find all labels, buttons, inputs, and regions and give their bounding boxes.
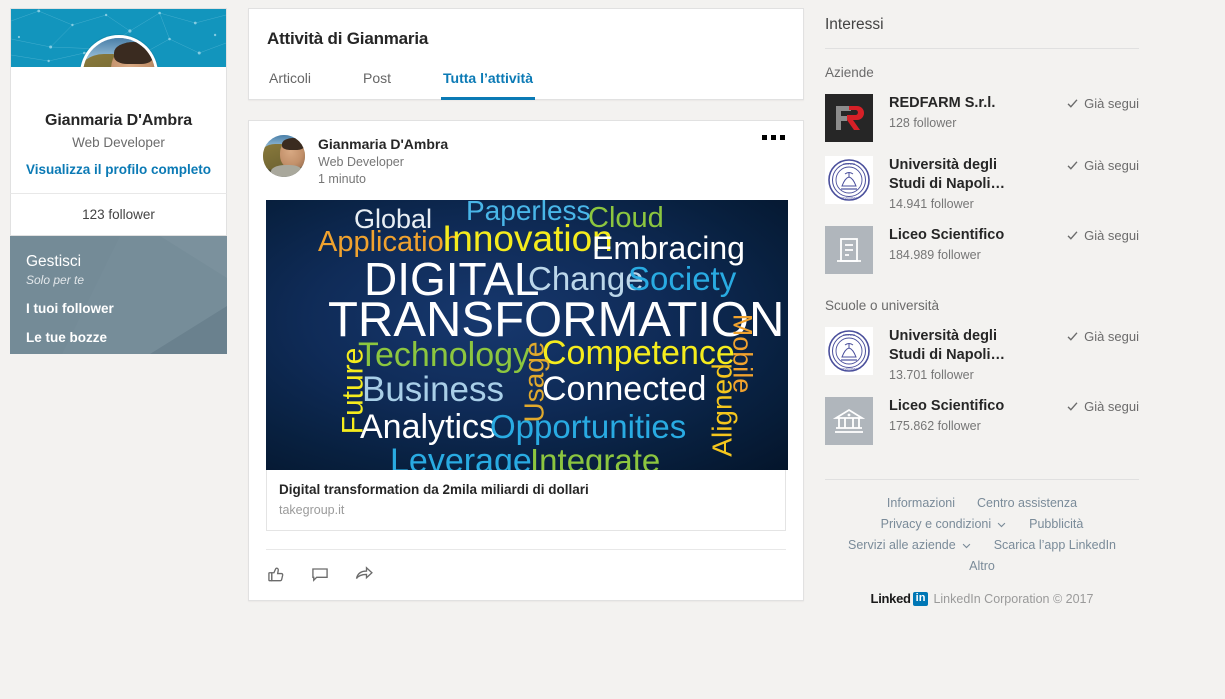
post-author-headline: Web Developer xyxy=(318,154,448,170)
footer-link-label: Altro xyxy=(969,559,995,573)
left-sidebar: Gianmaria D'Ambra Web Developer Visualiz… xyxy=(10,8,227,354)
footer-link[interactable]: Servizi alle aziende xyxy=(848,538,972,552)
footer-link-row: Altro xyxy=(825,559,1139,573)
tab-tutta-lattivita[interactable]: Tutta l’attività xyxy=(441,64,535,100)
interests-divider xyxy=(825,48,1139,49)
post-header: Gianmaria D'Ambra Web Developer 1 minuto xyxy=(249,121,803,187)
page-title: Attività di Gianmaria xyxy=(267,29,785,49)
wordcloud-word: Integrate xyxy=(530,444,660,470)
share-button[interactable] xyxy=(354,564,374,584)
linkedin-activity-page: Gianmaria D'Ambra Web Developer Visualiz… xyxy=(0,0,1225,699)
footer-link-row: InformazioniCentro assistenza xyxy=(825,496,1139,510)
copyright-text: LinkedIn Corporation © 2017 xyxy=(933,592,1093,606)
footer-link[interactable]: Privacy e condizioni xyxy=(881,517,1007,531)
wordcloud-word: Aligned xyxy=(709,363,737,456)
link-preview-domain: takegroup.it xyxy=(279,503,773,517)
following-label: Già segui xyxy=(1084,399,1139,414)
following-status[interactable]: Già segui xyxy=(1066,327,1139,344)
footer-link-row: Servizi alle aziendeScarica l’app Linked… xyxy=(825,538,1139,552)
chevron-down-icon xyxy=(961,540,972,551)
manage-panel: Gestisci Solo per te I tuoi follower Le … xyxy=(10,236,227,354)
post-action-bar xyxy=(266,549,786,600)
link-preview-title: Digital transformation da 2mila miliardi… xyxy=(279,481,773,499)
entity-row[interactable]: Liceo Scientifico175.862 followerGià seg… xyxy=(825,391,1139,453)
wordcloud-word: Future xyxy=(338,348,368,435)
entity-row[interactable]: SIGILLVMSTVDIORVMUniversità degli Studi … xyxy=(825,150,1139,220)
entity-name: Liceo Scientifico xyxy=(889,226,1037,245)
entity-name: Università degli Studi di Napoli… xyxy=(889,156,1037,194)
entity-info: Liceo Scientifico184.989 follower xyxy=(889,226,1037,263)
post-card: Gianmaria D'Ambra Web Developer 1 minuto… xyxy=(248,120,804,601)
linkedin-logo: Linked in xyxy=(871,591,929,606)
entity-row[interactable]: Liceo Scientifico184.989 followerGià seg… xyxy=(825,220,1139,282)
entity-info: REDFARM S.r.l.128 follower xyxy=(889,94,1037,131)
check-icon xyxy=(1066,97,1079,110)
copyright-row: Linked in LinkedIn Corporation © 2017 xyxy=(825,591,1139,606)
following-label: Già segui xyxy=(1084,228,1139,243)
following-status[interactable]: Già segui xyxy=(1066,94,1139,111)
footer-link-label: Informazioni xyxy=(887,496,955,510)
profile-headline: Web Developer xyxy=(23,134,214,151)
redfarm-logo xyxy=(825,94,873,142)
wordcloud-word: Change xyxy=(528,262,644,295)
footer-link[interactable]: Informazioni xyxy=(887,496,955,510)
check-icon xyxy=(1066,400,1079,413)
post-author-avatar[interactable] xyxy=(263,135,305,177)
avatar-photo xyxy=(83,38,155,67)
comment-button[interactable] xyxy=(310,564,330,584)
university-seal-logo: SIGILLVMSTVDIORVM xyxy=(825,156,873,204)
entity-info: Liceo Scientifico175.862 follower xyxy=(889,397,1037,434)
footer-link[interactable]: Pubblicità xyxy=(1029,517,1083,531)
profile-card: Gianmaria D'Ambra Web Developer Visualiz… xyxy=(10,8,227,193)
right-sidebar: Interessi AziendeREDFARM S.r.l.128 follo… xyxy=(825,16,1139,606)
follower-count: 123 follower xyxy=(10,193,227,236)
entity-info: Università degli Studi di Napoli…14.941 … xyxy=(889,156,1037,212)
your-followers-link[interactable]: I tuoi follower xyxy=(26,301,211,316)
entity-follower-count: 175.862 follower xyxy=(889,418,1037,434)
profile-details: Gianmaria D'Ambra Web Developer Visualiz… xyxy=(11,67,226,193)
linkedin-logo-word: Linked xyxy=(871,591,911,606)
profile-avatar[interactable] xyxy=(80,35,158,67)
entity-name: REDFARM S.r.l. xyxy=(889,94,1037,113)
footer-link-label: Centro assistenza xyxy=(977,496,1077,510)
footer-link[interactable]: Centro assistenza xyxy=(977,496,1077,510)
entity-info: Università degli Studi di Napoli…13.701 … xyxy=(889,327,1037,383)
your-drafts-link[interactable]: Le tue bozze xyxy=(26,330,211,345)
profile-cover-banner xyxy=(11,9,226,67)
footer-link-label: Privacy e condizioni xyxy=(881,517,991,531)
post-image-wordcloud[interactable]: GlobalPaperlessCloudApplicationInnovatio… xyxy=(266,200,788,470)
following-label: Già segui xyxy=(1084,158,1139,173)
wordcloud-word: Society xyxy=(628,262,736,295)
entity-row[interactable]: REDFARM S.r.l.128 followerGià segui xyxy=(825,88,1139,150)
ellipsis-icon[interactable] xyxy=(758,131,789,144)
post-author-name[interactable]: Gianmaria D'Ambra xyxy=(318,136,448,153)
following-status[interactable]: Già segui xyxy=(1066,226,1139,243)
check-icon xyxy=(1066,229,1079,242)
footer-link[interactable]: Scarica l’app LinkedIn xyxy=(994,538,1116,552)
svg-text:STVDIORVM: STVDIORVM xyxy=(841,367,856,371)
view-full-profile-link[interactable]: Visualizza il profilo completo xyxy=(23,160,214,179)
check-icon xyxy=(1066,159,1079,172)
footer-link-row: Privacy e condizioniPubblicità xyxy=(825,517,1139,531)
wordcloud-word: Business xyxy=(362,372,504,407)
wordcloud-word: Connected xyxy=(542,372,706,406)
wordcloud-word: Leverage xyxy=(390,444,532,470)
check-icon xyxy=(1066,330,1079,343)
comment-icon xyxy=(310,564,330,584)
manage-title: Gestisci xyxy=(26,252,211,272)
following-status[interactable]: Già segui xyxy=(1066,156,1139,173)
interests-title: Interessi xyxy=(825,16,1139,34)
footer-link-label: Servizi alle aziende xyxy=(848,538,956,552)
university-seal-logo: SIGILLVMSTVDIORVM xyxy=(825,327,873,375)
main-content: Attività di Gianmaria Articoli Post Tutt… xyxy=(248,8,804,601)
entity-row[interactable]: SIGILLVMSTVDIORVMUniversità degli Studi … xyxy=(825,321,1139,391)
manage-subtitle: Solo per te xyxy=(26,273,211,287)
footer-link-label: Scarica l’app LinkedIn xyxy=(994,538,1116,552)
entity-follower-count: 184.989 follower xyxy=(889,247,1037,263)
wordcloud-word: Technology xyxy=(358,338,530,372)
svg-text:SIGILLVM: SIGILLVM xyxy=(843,333,855,337)
entity-follower-count: 13.701 follower xyxy=(889,367,1037,383)
interests-groups: AziendeREDFARM S.r.l.128 followerGià seg… xyxy=(825,65,1139,453)
profile-name: Gianmaria D'Ambra xyxy=(23,111,214,131)
entity-follower-count: 128 follower xyxy=(889,115,1037,131)
entity-follower-count: 14.941 follower xyxy=(889,196,1037,212)
svg-text:SIGILLVM: SIGILLVM xyxy=(843,162,855,166)
like-button[interactable] xyxy=(266,564,286,584)
following-status[interactable]: Già segui xyxy=(1066,397,1139,414)
wordcloud-word: Innovation xyxy=(442,220,613,257)
wordcloud-word: Analytics xyxy=(360,410,496,444)
thumbs-up-icon xyxy=(266,564,286,584)
svg-text:STVDIORVM: STVDIORVM xyxy=(841,196,856,200)
activity-tabs: Articoli Post Tutta l’attività xyxy=(267,63,785,99)
footer-link-label: Pubblicità xyxy=(1029,517,1083,531)
footer-link[interactable]: Altro xyxy=(969,559,995,573)
share-arrow-icon xyxy=(354,564,374,584)
wordcloud-word: Usage xyxy=(520,342,548,423)
post-timestamp: 1 minuto xyxy=(318,171,448,187)
interests-group-label: Aziende xyxy=(825,65,1139,80)
tab-post[interactable]: Post xyxy=(361,64,393,100)
activity-header-card: Attività di Gianmaria Articoli Post Tutt… xyxy=(248,8,804,100)
link-preview[interactable]: Digital transformation da 2mila miliardi… xyxy=(266,470,786,531)
following-label: Già segui xyxy=(1084,329,1139,344)
entity-name: Liceo Scientifico xyxy=(889,397,1037,416)
office-building-icon xyxy=(825,226,873,274)
chevron-down-icon xyxy=(996,519,1007,530)
entity-name: Università degli Studi di Napoli… xyxy=(889,327,1037,365)
following-label: Già segui xyxy=(1084,96,1139,111)
school-building-icon xyxy=(825,397,873,445)
linkedin-logo-badge: in xyxy=(913,592,929,606)
site-footer: InformazioniCentro assistenzaPrivacy e c… xyxy=(825,480,1139,606)
interests-group-label: Scuole o università xyxy=(825,298,1139,313)
tab-articoli[interactable]: Articoli xyxy=(267,64,313,100)
